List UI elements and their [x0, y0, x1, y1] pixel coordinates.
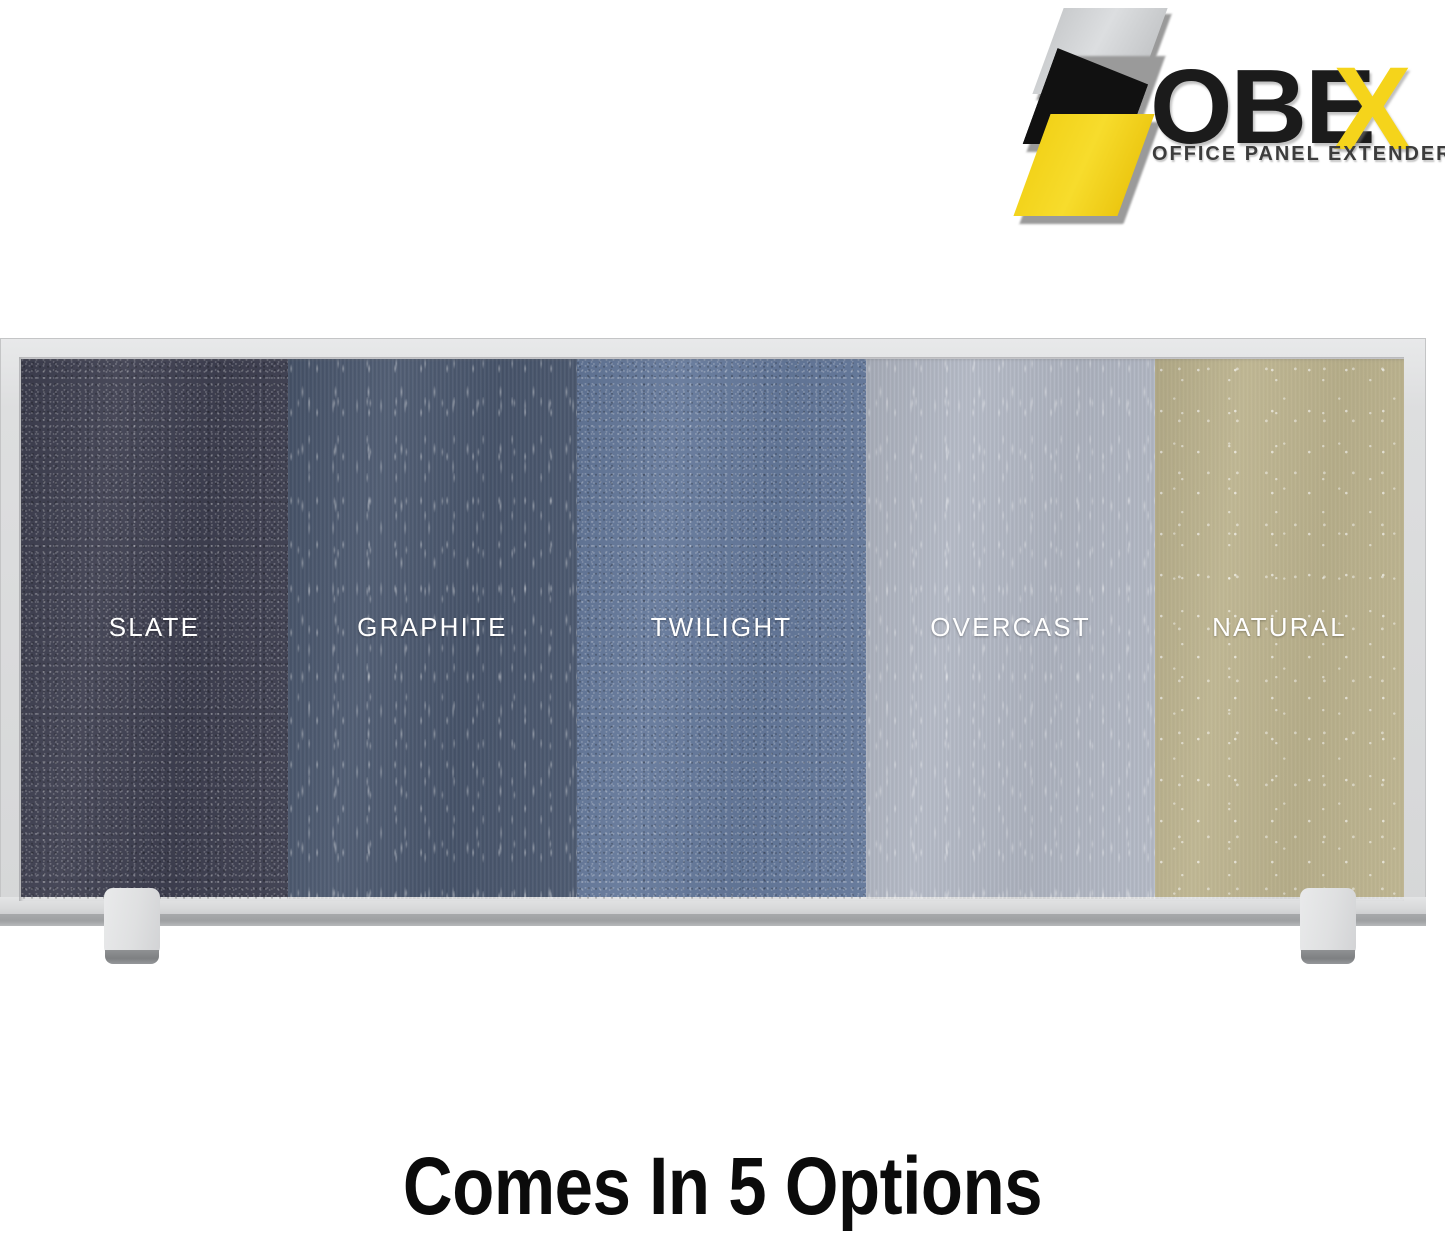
swatch-graphite[interactable]: GRAPHITE	[288, 359, 577, 899]
swatch-twilight[interactable]: TWILIGHT	[577, 359, 866, 899]
caption-text: Comes In 5 Options	[116, 1146, 1330, 1228]
swatch-overcast[interactable]: OVERCAST	[866, 359, 1155, 899]
panel-foot-base-left	[105, 950, 159, 964]
panel-foot-base-right	[1301, 950, 1355, 964]
panel-mounting-foot-right	[1300, 888, 1356, 956]
panel-mounting-foot-left	[104, 888, 160, 956]
swatch-slate[interactable]: SLATE	[21, 359, 288, 899]
swatch-natural[interactable]: NATURAL	[1155, 359, 1404, 899]
privacy-panel-product: SLATE GRAPHITE TWILIGHT OVERCAST NATURAL	[0, 338, 1426, 928]
swatch-label-graphite: GRAPHITE	[288, 612, 577, 643]
panel-bottom-rail-shadow	[0, 914, 1426, 926]
swatch-label-twilight: TWILIGHT	[577, 612, 866, 643]
obex-parallelogram-mark-icon	[1030, 6, 1160, 246]
logo-tagline: OFFICE PANEL EXTENDERS	[1152, 142, 1445, 166]
swatch-label-slate: SLATE	[21, 612, 288, 643]
fabric-swatch-strip: SLATE GRAPHITE TWILIGHT OVERCAST NATURAL	[21, 359, 1404, 899]
panel-bottom-rail	[0, 897, 1426, 915]
swatch-label-overcast: OVERCAST	[866, 612, 1155, 643]
obex-logo: OBE X OFFICE PANEL EXTENDERS	[1030, 4, 1430, 252]
swatch-label-natural: NATURAL	[1155, 612, 1404, 643]
